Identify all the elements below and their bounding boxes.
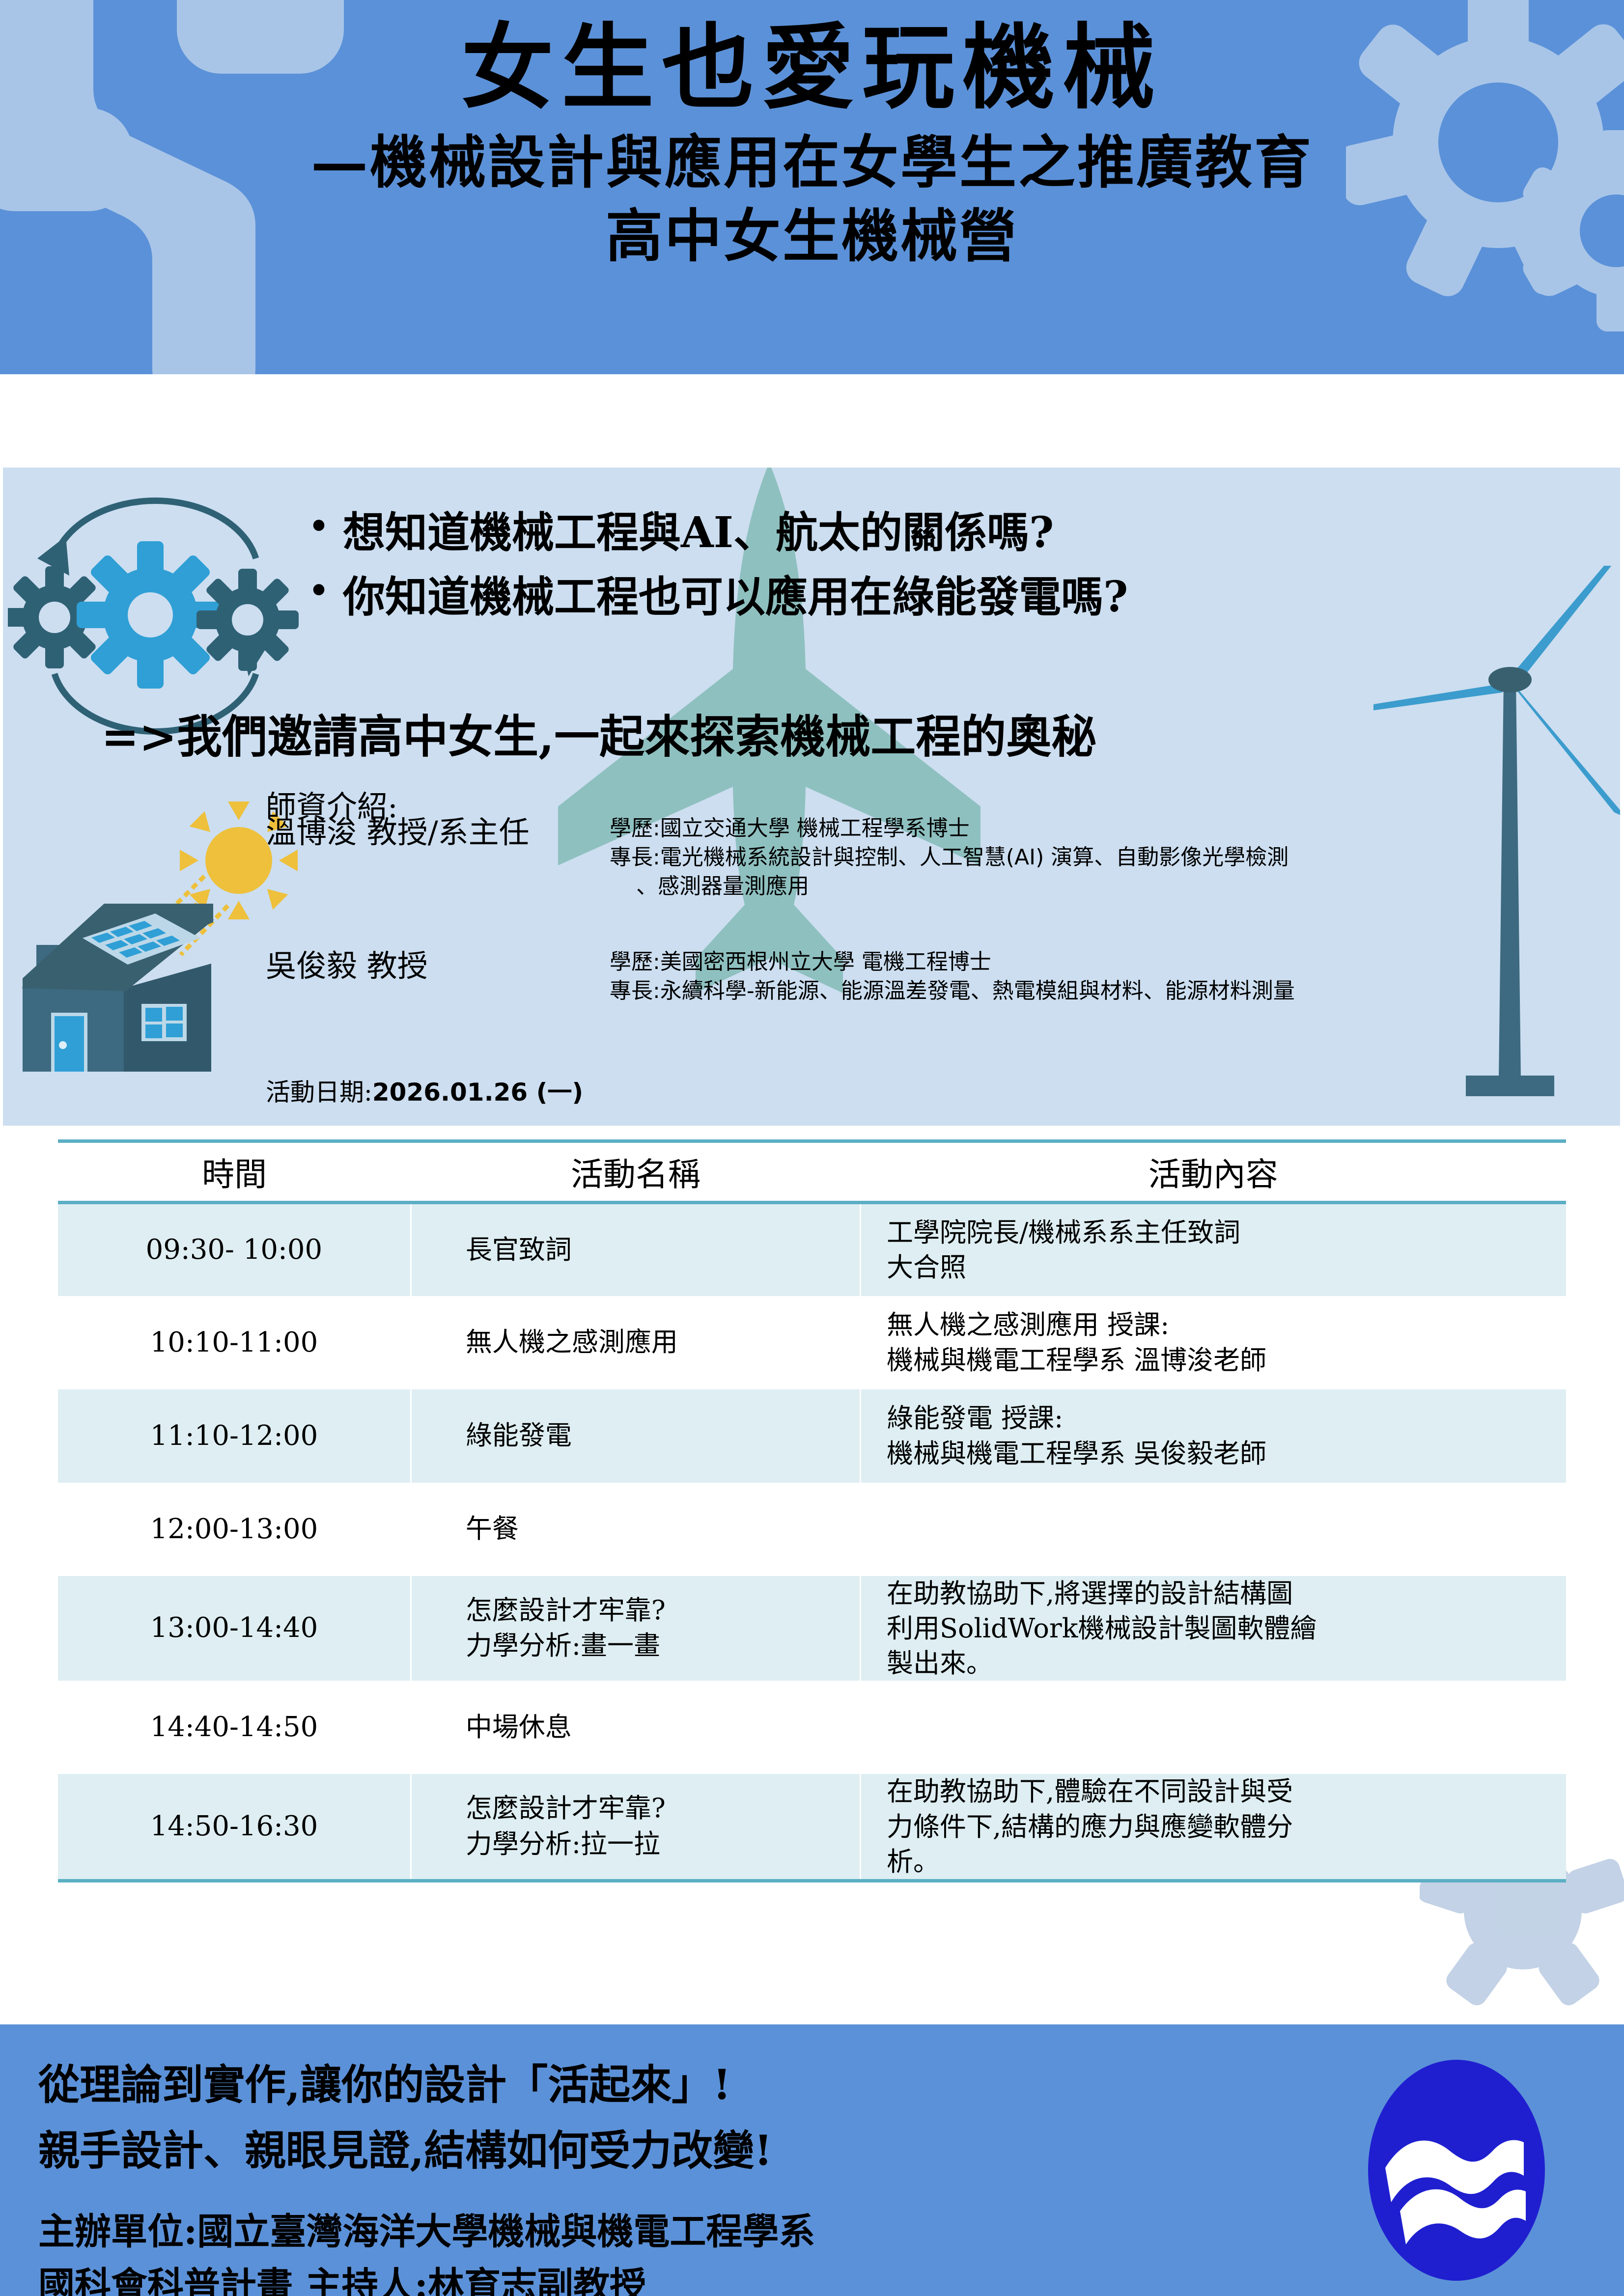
event-date-label: 活動日期:: [266, 1078, 372, 1107]
cell-time: 14:50-16:30: [58, 1774, 411, 1879]
table-row: 09:30- 10:00長官致詞工學院院長/機械系系主任致詞大合照: [58, 1203, 1566, 1296]
cell-activity-name: 長官致詞: [411, 1203, 860, 1296]
event-date: 活動日期:2026.01.26 (一): [266, 1073, 583, 1108]
event-date-value: 2026.01.26 (一): [372, 1078, 583, 1107]
cell-activity-name: 無人機之感測應用: [411, 1296, 860, 1389]
cell-activity-content: 在助教協助下,體驗在不同設計與受力條件下,結構的應力與應變軟體分析。: [860, 1774, 1566, 1879]
faculty-details: 學歷:美國密西根州立大學 電機工程博士 專長:永續科學-新能源、能源溫差發電、熱…: [610, 948, 1295, 1006]
faculty-entry-2: 吳俊毅 教授 學歷:美國密西根州立大學 電機工程博士 專長:永續科學-新能源、能…: [266, 948, 1295, 1006]
faculty-entry-1: 溫博浚 教授/系主任 學歷:國立交通大學 機械工程學系博士 專長:電光機械系統設…: [266, 814, 1288, 901]
cell-activity-name: 綠能發電: [411, 1389, 860, 1483]
cell-activity-content: 無人機之感測應用 授課:機械與機電工程學系 溫博浚老師: [860, 1296, 1566, 1389]
bullet-list: • 想知道機械工程與AI、航太的關係嗎? • 你知道機械工程也可以應用在綠能發電…: [308, 508, 1128, 637]
table-row: 10:10-11:00無人機之感測應用無人機之感測應用 授課:機械與機電工程學系…: [58, 1296, 1566, 1389]
faculty-name: 溫博浚 教授/系主任: [266, 814, 610, 850]
cell-time: 11:10-12:00: [58, 1389, 411, 1483]
table-row: 11:10-12:00綠能發電綠能發電 授課:機械與機電工程學系 吳俊毅老師: [58, 1389, 1566, 1483]
invitation-text: =>我們邀請高中女生,一起來探索機械工程的奧秘: [101, 712, 1096, 762]
cell-activity-name: 中場休息: [411, 1681, 860, 1774]
table-bottom-border: [58, 1879, 1566, 1882]
cell-activity-name: 午餐: [411, 1483, 860, 1576]
bullet-marker-icon: •: [308, 572, 330, 610]
cell-time: 13:00-14:40: [58, 1576, 411, 1681]
cell-activity-content: 在助教協助下,將選擇的設計結構圖利用SolidWork機械設計製圖軟體繪製出來。: [860, 1576, 1566, 1681]
ntou-logo-icon: [1346, 2055, 1567, 2286]
poster-footer: 從理論到實作,讓你的設計「活起來」! 親手設計、親眼見證,結構如何受力改變! 主…: [0, 2024, 1624, 2296]
cell-time: 14:40-14:50: [58, 1681, 411, 1774]
schedule-table: 時間 活動名稱 活動內容 09:30- 10:00長官致詞工學院院長/機械系系主…: [58, 1139, 1566, 1879]
bullet-item: • 想知道機械工程與AI、航太的關係嗎?: [308, 508, 1128, 557]
faculty-expertise-line: 專長:永續科學-新能源、能源溫差發電、熱電模組與材料、能源材料測量: [610, 977, 1295, 1006]
faculty-name: 吳俊毅 教授: [266, 948, 610, 984]
info-panel: • 想知道機械工程與AI、航太的關係嗎? • 你知道機械工程也可以應用在綠能發電…: [3, 468, 1620, 1126]
wind-turbine-icon: [1373, 566, 1620, 1111]
cell-time: 10:10-11:00: [58, 1296, 411, 1389]
column-header-name: 活動名稱: [411, 1141, 860, 1203]
poster-title: 女生也愛玩機械: [0, 19, 1624, 116]
faculty-education: 學歷:美國密西根州立大學 電機工程博士: [610, 948, 1295, 977]
faculty-details: 學歷:國立交通大學 機械工程學系博士 專長:電光機械系統設計與控制、人工智慧(A…: [610, 814, 1288, 901]
cell-time: 12:00-13:00: [58, 1483, 411, 1576]
table-row: 13:00-14:40怎麼設計才牢靠?力學分析:畫一畫在助教協助下,將選擇的設計…: [58, 1576, 1566, 1681]
footer-organizer: 主辦單位:國立臺灣海洋大學機械與機電工程學系: [38, 2202, 815, 2255]
footer-project-host: 國科會科普計畫 主持人:林育志副教授: [38, 2256, 646, 2296]
footer-slogan-1: 從理論到實作,讓你的設計「活起來」!: [38, 2052, 731, 2111]
cell-activity-content: 工學院院長/機械系系主任致詞大合照: [860, 1203, 1566, 1296]
cell-activity-content: [860, 1681, 1566, 1774]
cell-activity-name: 怎麼設計才牢靠?力學分析:拉一拉: [411, 1774, 860, 1879]
table-row: 14:40-14:50中場休息: [58, 1681, 1566, 1774]
bullet-marker-icon: •: [308, 508, 330, 546]
footer-slogan-2: 親手設計、親眼見證,結構如何受力改變!: [38, 2118, 772, 2177]
poster-subtitle-1: —機械設計與應用在女學生之推廣教育: [0, 132, 1624, 194]
table-row: 12:00-13:00午餐: [58, 1483, 1566, 1576]
column-header-content: 活動內容: [860, 1141, 1566, 1203]
column-header-time: 時間: [58, 1141, 411, 1203]
table-row: 14:50-16:30怎麼設計才牢靠?力學分析:拉一拉在助教協助下,體驗在不同設…: [58, 1774, 1566, 1879]
cell-activity-name: 怎麼設計才牢靠?力學分析:畫一畫: [411, 1576, 860, 1681]
bullet-text: 你知道機械工程也可以應用在綠能發電嗎?: [343, 572, 1128, 622]
faculty-expertise-line: 專長:電光機械系統設計與控制、人工智慧(AI) 演算、自動影像光學檢測: [610, 843, 1288, 872]
poster-subtitle-2: 高中女生機械營: [0, 205, 1624, 268]
bullet-text: 想知道機械工程與AI、航太的關係嗎?: [343, 508, 1054, 557]
cell-activity-content: 綠能發電 授課:機械與機電工程學系 吳俊毅老師: [860, 1389, 1566, 1483]
table-header-row: 時間 活動名稱 活動內容: [58, 1141, 1566, 1203]
faculty-education: 學歷:國立交通大學 機械工程學系博士: [610, 814, 1288, 843]
schedule-table-body: 09:30- 10:00長官致詞工學院院長/機械系系主任致詞大合照10:10-1…: [58, 1203, 1566, 1880]
faculty-expertise-line: 、感測器量測應用: [610, 872, 1288, 901]
cell-time: 09:30- 10:00: [58, 1203, 411, 1296]
bullet-item: • 你知道機械工程也可以應用在綠能發電嗎?: [308, 572, 1128, 622]
cell-activity-content: [860, 1483, 1566, 1576]
poster-header: 女生也愛玩機械 —機械設計與應用在女學生之推廣教育 高中女生機械營: [0, 0, 1624, 374]
